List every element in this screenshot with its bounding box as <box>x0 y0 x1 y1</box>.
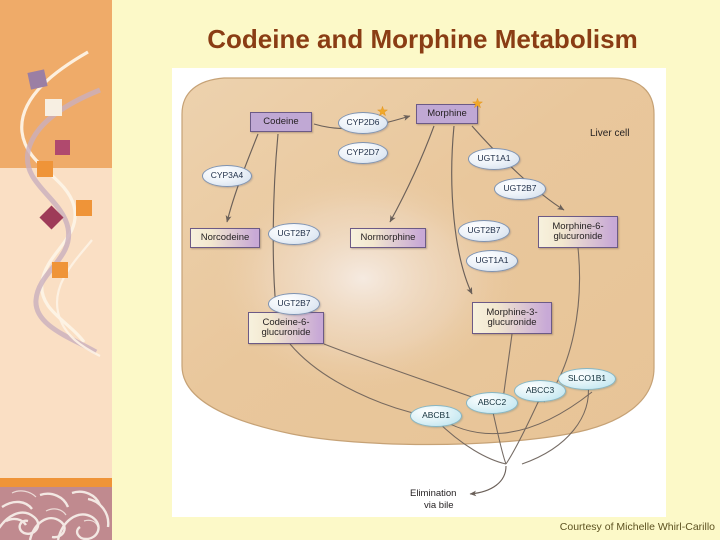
image-credit: Courtesy of Michelle Whirl-Carillo <box>465 521 715 533</box>
sidebar-square-magenta <box>55 140 70 155</box>
enzyme-ugt2b7-right-label: UGT2B7 <box>467 226 500 235</box>
transporter-abcb1-label: ABCB1 <box>422 411 450 420</box>
metabolism-diagram-panel: Liver cell Codeine Morphine Norcodeine N… <box>172 68 666 517</box>
elimination-label-line1: Elimination <box>410 488 456 499</box>
elimination-arrow <box>470 466 506 494</box>
metabolite-morphine-3-glucuronide-label: Morphine-3- glucuronide <box>486 308 537 329</box>
enzyme-ugt1a1-upper[interactable]: UGT1A1 <box>468 148 520 170</box>
enzyme-cyp3a4[interactable]: CYP3A4 <box>202 165 252 187</box>
enzyme-ugt2b7-lower-label: UGT2B7 <box>277 299 310 308</box>
enzyme-cyp2d7-label: CYP2D7 <box>346 148 379 157</box>
metabolite-codeine-6-glucuronide[interactable]: Codeine-6- glucuronide <box>248 312 324 344</box>
slide-title: Codeine and Morphine Metabolism <box>150 24 695 55</box>
enzyme-ugt2b7-upper[interactable]: UGT2B7 <box>494 178 546 200</box>
morphine-star-icon <box>472 98 483 109</box>
transporter-abcb1[interactable]: ABCB1 <box>410 405 462 427</box>
enzyme-ugt2b7-right[interactable]: UGT2B7 <box>458 220 510 242</box>
sidebar-accent-band <box>0 478 112 487</box>
transporter-abcc2-label: ABCC2 <box>478 398 506 407</box>
transporter-abcc3[interactable]: ABCC3 <box>514 380 566 402</box>
metabolite-morphine-6-glucuronide-label: Morphine-6- glucuronide <box>552 222 603 243</box>
liver-cell-label: Liver cell <box>590 128 629 139</box>
sidebar-square-mauve-1 <box>27 69 47 89</box>
metabolite-normorphine-label: Normorphine <box>361 233 416 243</box>
metabolite-codeine[interactable]: Codeine <box>250 112 312 132</box>
sidebar-square-cream <box>45 99 62 116</box>
metabolite-morphine[interactable]: Morphine <box>416 104 478 124</box>
sidebar-paisley-band <box>0 487 112 540</box>
enzyme-ugt1a1-right[interactable]: UGT1A1 <box>466 250 518 272</box>
sidebar-ribbon-graphic <box>0 0 112 480</box>
enzyme-ugt2b7-middle[interactable]: UGT2B7 <box>268 223 320 245</box>
metabolite-morphine-label: Morphine <box>427 109 467 119</box>
transporter-slco1b1[interactable]: SLCO1B1 <box>558 368 616 390</box>
enzyme-cyp3a4-label: CYP3A4 <box>211 171 244 180</box>
transporter-slco1b1-label: SLCO1B1 <box>568 374 606 383</box>
metabolite-normorphine[interactable]: Normorphine <box>350 228 426 248</box>
sidebar-square-orange-1 <box>37 161 53 177</box>
decorative-sidebar <box>0 0 112 540</box>
enzyme-ugt2b7-upper-label: UGT2B7 <box>503 184 536 193</box>
sidebar-square-orange-2 <box>76 200 92 216</box>
enzyme-ugt1a1-upper-label: UGT1A1 <box>477 154 510 163</box>
metabolite-norcodeine-label: Norcodeine <box>201 233 250 243</box>
metabolite-morphine-3-glucuronide[interactable]: Morphine-3- glucuronide <box>472 302 552 334</box>
metabolite-codeine-label: Codeine <box>263 117 298 127</box>
metabolite-codeine-6-glucuronide-label: Codeine-6- glucuronide <box>261 318 310 339</box>
metabolite-norcodeine[interactable]: Norcodeine <box>190 228 260 248</box>
enzyme-cyp2d6-label: CYP2D6 <box>346 118 379 127</box>
metabolite-morphine-6-glucuronide[interactable]: Morphine-6- glucuronide <box>538 216 618 248</box>
elimination-label-line2: via bile <box>424 500 454 511</box>
transporter-abcc2[interactable]: ABCC2 <box>466 392 518 414</box>
enzyme-cyp2d7[interactable]: CYP2D7 <box>338 142 388 164</box>
cyp2d6-star-icon <box>377 106 388 117</box>
enzyme-ugt2b7-middle-label: UGT2B7 <box>277 229 310 238</box>
sidebar-square-orange-3 <box>52 262 68 278</box>
enzyme-ugt2b7-lower[interactable]: UGT2B7 <box>268 293 320 315</box>
slide-canvas: Codeine and Morphine Metabolism <box>0 0 720 540</box>
transporter-abcc3-label: ABCC3 <box>526 386 554 395</box>
enzyme-ugt1a1-right-label: UGT1A1 <box>475 256 508 265</box>
